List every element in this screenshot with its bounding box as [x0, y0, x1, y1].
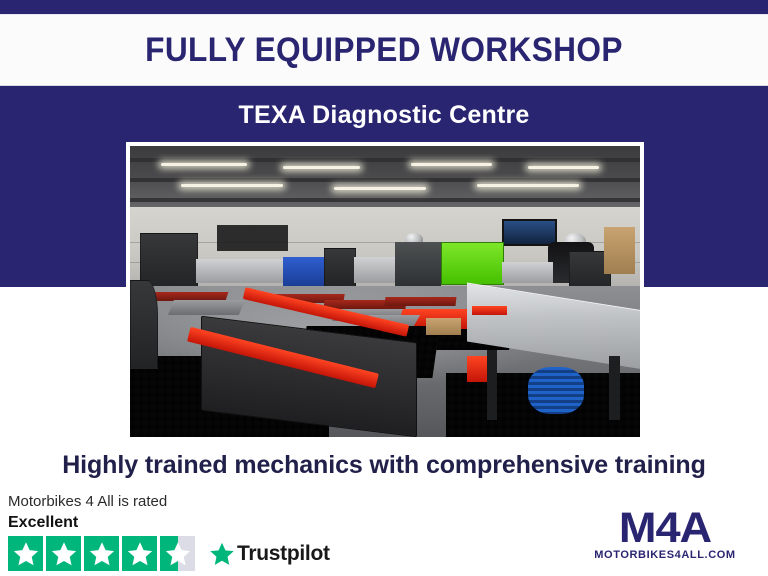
- photo-ramp: [385, 297, 457, 306]
- photo-bench-leg: [487, 350, 497, 420]
- photo-strip-light: [528, 166, 599, 169]
- photo-strip-light: [161, 163, 248, 166]
- trustpilot-logo[interactable]: Trustpilot: [209, 541, 330, 567]
- trustpilot-rated-line: Motorbikes 4 All is rated: [8, 492, 338, 511]
- photo-plywood-panel: [604, 227, 635, 274]
- photo-ceiling-beam: [130, 158, 640, 162]
- photo-ceiling-beam: [130, 178, 640, 182]
- star-icon: [46, 536, 81, 571]
- star-icon: [84, 536, 119, 571]
- photo-cabinet: [324, 248, 357, 288]
- photo-pegboard: [217, 225, 288, 251]
- photo-workbench: [196, 259, 283, 282]
- photo-workbench: [354, 257, 395, 283]
- trustpilot-rating-word: Excellent: [8, 512, 338, 533]
- photo-strip-light: [181, 184, 283, 187]
- promo-banner: FULLY EQUIPPED WORKSHOP TEXA Diagnostic …: [0, 0, 768, 576]
- photo-extraction-unit: [130, 280, 158, 369]
- page-title: FULLY EQUIPPED WORKSHOP: [27, 22, 741, 78]
- photo-ramp: [149, 292, 228, 301]
- m4a-wordmark: M4A: [580, 506, 750, 550]
- photo-workbench: [502, 262, 553, 282]
- trustpilot-rating-block[interactable]: Motorbikes 4 All is rated Excellent: [8, 492, 338, 571]
- workshop-photo-frame: [126, 142, 644, 441]
- m4a-logo[interactable]: M4A MOTORBIKES4ALL.COM: [584, 506, 746, 562]
- subtitle: TEXA Diagnostic Centre: [0, 99, 768, 131]
- workshop-photo: [130, 146, 640, 437]
- star-half-icon: [160, 536, 195, 571]
- photo-bench-leg: [609, 356, 619, 420]
- photo-wall-tv: [502, 219, 557, 246]
- photo-tool-chest-green: [441, 242, 504, 285]
- photo-bottle-jack: [467, 356, 487, 382]
- photo-tool-chest-grey: [395, 242, 441, 286]
- photo-cardboard-box: [426, 318, 462, 335]
- trustpilot-star-icon: [209, 541, 235, 567]
- photo-tool-chest-blue: [283, 257, 324, 286]
- trustpilot-wordmark: Trustpilot: [237, 542, 330, 566]
- photo-air-hose: [528, 367, 584, 414]
- star-icon: [122, 536, 157, 571]
- star-icon: [8, 536, 43, 571]
- photo-strip-light: [411, 163, 493, 166]
- trustpilot-stars-row[interactable]: Trustpilot: [8, 536, 338, 571]
- photo-red-toolbox: [472, 306, 508, 315]
- top-navy-band: [0, 0, 768, 14]
- tagline: Highly trained mechanics with comprehens…: [0, 448, 768, 482]
- photo-strip-light: [283, 166, 360, 169]
- photo-ceiling-beam: [130, 198, 640, 202]
- trustpilot-stars[interactable]: [8, 536, 195, 571]
- photo-ramp: [168, 300, 245, 315]
- photo-strip-light: [477, 184, 579, 187]
- photo-strip-light: [334, 187, 426, 190]
